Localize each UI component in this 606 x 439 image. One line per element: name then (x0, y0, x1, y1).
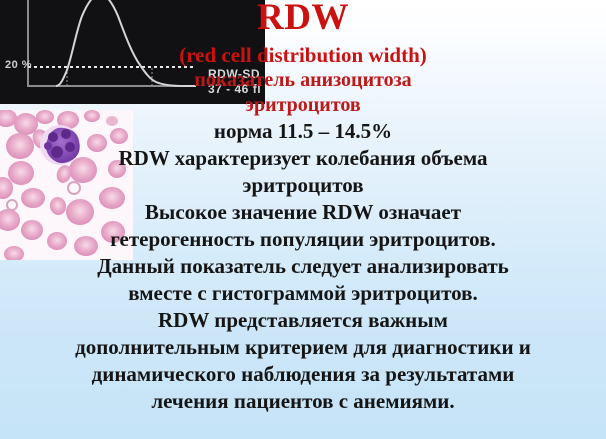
blood-smear-micrograph (0, 110, 133, 260)
histogram-caption-rdw-sd: RDW-SD (208, 67, 260, 81)
histogram-axis-label: 20 % (5, 59, 32, 71)
rdw-histogram-image: 20 % RDW-SD 37 - 46 fl (0, 0, 265, 104)
body-line: RDW представляется важным (0, 309, 606, 331)
smear-field (0, 110, 133, 260)
body-line: динамического наблюдения за результатами (0, 363, 606, 385)
white-blood-cell (40, 125, 80, 165)
histogram-caption-range: 37 - 46 fl (208, 82, 261, 96)
body-line: вместе с гистограммой эритроцитов. (0, 282, 606, 304)
slide-canvas: 20 % RDW-SD 37 - 46 fl (0, 0, 606, 439)
body-line: дополнительным критерием для диагностики… (0, 336, 606, 358)
body-line: лечения пациентов с анемиями. (0, 390, 606, 412)
histogram-curve (56, 0, 196, 86)
